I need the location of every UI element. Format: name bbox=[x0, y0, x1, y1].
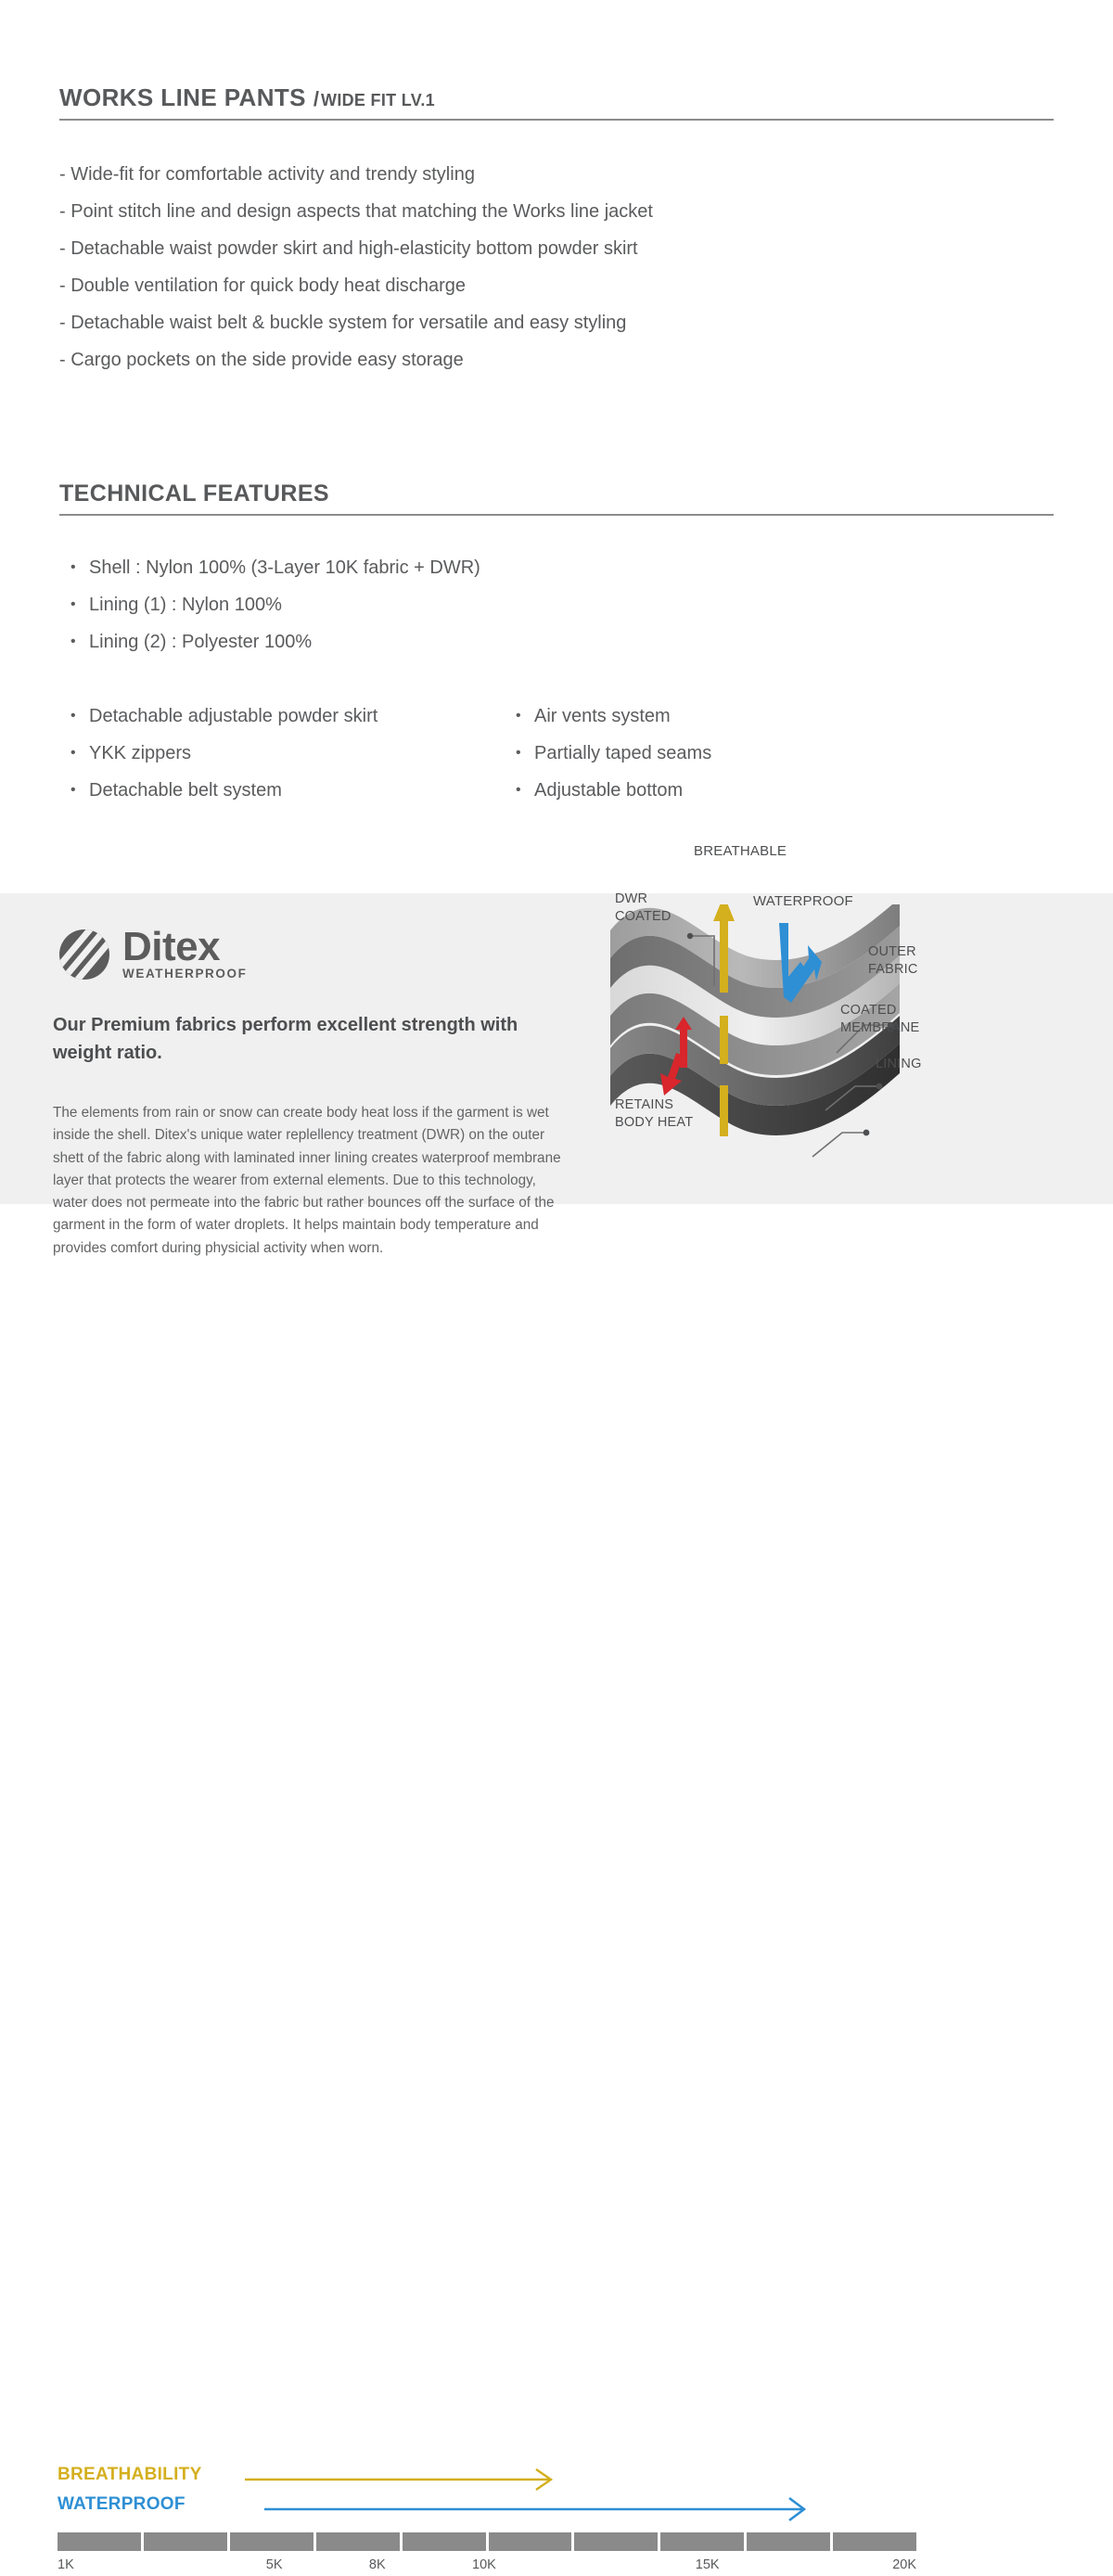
list-item: YKK zippers bbox=[70, 735, 516, 772]
label-retains-line1: RETAINS bbox=[615, 1096, 693, 1114]
scale-bar-segment bbox=[230, 2532, 313, 2551]
label-coated-membrane: COATED MEMBRANE bbox=[840, 1002, 919, 1037]
label-lining: LINING bbox=[876, 1056, 922, 1073]
scale-bar-segment bbox=[58, 2532, 141, 2551]
breathability-arrow-icon bbox=[245, 2469, 551, 2490]
list-item: Shell : Nylon 100% (3-Layer 10K fabric +… bbox=[70, 549, 480, 586]
scale-tick: 5K bbox=[266, 2557, 283, 2572]
ditex-logo-text: Ditex WEATHERPROOF bbox=[122, 928, 247, 981]
scale-ticks: 1K 5K 8K 10K 15K 20K bbox=[58, 2557, 916, 2576]
list-item: - Cargo pockets on the side provide easy… bbox=[59, 341, 653, 378]
page-title: WORKS LINE PANTS/WIDE FIT LV.1 bbox=[59, 83, 1054, 121]
label-dwr-coated-line2: COATED bbox=[615, 908, 672, 926]
features-column-right: Air vents system Partially taped seams A… bbox=[516, 698, 961, 809]
title-separator: / bbox=[306, 87, 321, 110]
scale-bar-segment bbox=[747, 2532, 830, 2551]
technical-features-heading: TECHNICAL FEATURES bbox=[59, 481, 1054, 516]
list-item: - Wide-fit for comfortable activity and … bbox=[59, 156, 653, 193]
list-item: - Double ventilation for quick body heat… bbox=[59, 267, 653, 304]
waterproof-arrow-icon bbox=[264, 2498, 804, 2520]
label-coated-line2: MEMBRANE bbox=[840, 1019, 919, 1037]
scale-bar-segment bbox=[403, 2532, 486, 2551]
product-spec-page: WORKS LINE PANTS/WIDE FIT LV.1 - Wide-fi… bbox=[0, 0, 1113, 1670]
label-breathable: BREATHABLE bbox=[694, 842, 787, 860]
label-waterproof: WATERPROOF bbox=[753, 892, 853, 910]
scale-tick: 20K bbox=[892, 2557, 916, 2572]
ditex-logo-mark-icon bbox=[59, 929, 109, 980]
scale-bar-segment bbox=[316, 2532, 400, 2551]
list-item: Detachable adjustable powder skirt bbox=[70, 698, 516, 735]
features-columns: Detachable adjustable powder skirt YKK z… bbox=[70, 698, 961, 809]
features-column-left: Detachable adjustable powder skirt YKK z… bbox=[70, 698, 516, 809]
product-subtitle: WIDE FIT LV.1 bbox=[321, 91, 435, 109]
label-outer-line1: OUTER bbox=[868, 943, 918, 961]
label-outer-line2: FABRIC bbox=[868, 961, 918, 979]
list-item: Lining (1) : Nylon 100% bbox=[70, 586, 480, 623]
scale-bar-segment bbox=[489, 2532, 572, 2551]
ditex-headline: Our Premium fabrics perform excellent st… bbox=[53, 1011, 572, 1067]
scale-bar-segment bbox=[833, 2532, 916, 2551]
label-dwr-coated: DWR COATED bbox=[615, 891, 672, 926]
scale-bar-segment bbox=[144, 2532, 227, 2551]
product-title: WORKS LINE PANTS bbox=[59, 83, 306, 111]
label-retains-body-heat: RETAINS BODY HEAT bbox=[615, 1096, 693, 1132]
scale-bar-segment bbox=[574, 2532, 658, 2551]
list-item: - Point stitch line and design aspects t… bbox=[59, 193, 653, 230]
scale-tick: 8K bbox=[369, 2557, 386, 2572]
scale-tick: 15K bbox=[696, 2557, 720, 2572]
scale-bar bbox=[58, 2532, 916, 2551]
ditex-logo: Ditex WEATHERPROOF bbox=[59, 928, 247, 981]
scale-bar-segment bbox=[660, 2532, 744, 2551]
label-dwr-coated-line1: DWR bbox=[615, 891, 672, 908]
label-coated-line1: COATED bbox=[840, 1002, 919, 1019]
technical-features-title: TECHNICAL FEATURES bbox=[59, 481, 329, 506]
list-item: Air vents system bbox=[516, 698, 961, 735]
scale-tick: 10K bbox=[472, 2557, 496, 2572]
product-bullet-list: - Wide-fit for comfortable activity and … bbox=[59, 156, 653, 378]
list-item: Lining (2) : Polyester 100% bbox=[70, 623, 480, 660]
list-item: - Detachable waist belt & buckle system … bbox=[59, 304, 653, 341]
ditex-tagline: WEATHERPROOF bbox=[122, 967, 247, 981]
list-item: Adjustable bottom bbox=[516, 772, 961, 809]
list-item: Detachable belt system bbox=[70, 772, 516, 809]
list-item: - Detachable waist powder skirt and high… bbox=[59, 230, 653, 267]
materials-list: Shell : Nylon 100% (3-Layer 10K fabric +… bbox=[70, 549, 480, 660]
ditex-wordmark: Ditex bbox=[122, 928, 247, 967]
label-retains-line2: BODY HEAT bbox=[615, 1114, 693, 1132]
scale-tick: 1K bbox=[58, 2557, 74, 2572]
ditex-paragraph: The elements from rain or snow can creat… bbox=[53, 1102, 565, 1260]
label-outer-fabric: OUTER FABRIC bbox=[868, 943, 918, 979]
list-item: Partially taped seams bbox=[516, 735, 961, 772]
